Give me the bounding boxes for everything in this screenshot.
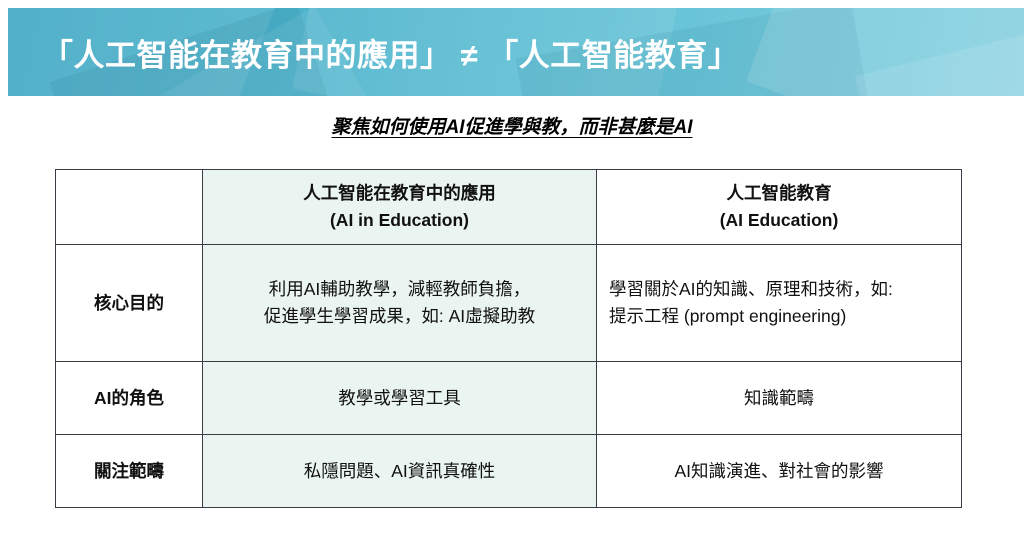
table-corner-blank <box>56 170 203 245</box>
table-header-row: 人工智能在教育中的應用 (AI in Education) 人工智能教育 (AI… <box>56 170 962 245</box>
slide-subtitle: 聚焦如何使用AI促進學與教，而非甚麼是AI <box>0 112 1024 139</box>
column-header-ai-in-education: 人工智能在教育中的應用 (AI in Education) <box>203 170 597 245</box>
banner-polygon-decor <box>746 8 1024 96</box>
cell-focus-area-ai-in-education: 私隱問題、AI資訊真確性 <box>203 435 597 508</box>
banner-polygon-decor <box>855 14 1024 96</box>
row-label-core-purpose: 核心目的 <box>56 245 203 362</box>
cell-core-purpose-ai-education: 學習關於AI的知識、原理和技術，如: 提示工程 (prompt engineer… <box>597 245 962 362</box>
comparison-table: 人工智能在教育中的應用 (AI in Education) 人工智能教育 (AI… <box>55 169 962 508</box>
slide-header-banner: 「人工智能在教育中的應用」 ≠ 「人工智能教育」 <box>8 8 1024 96</box>
column-header-en: (AI Education) <box>609 207 949 234</box>
cell-ai-role-ai-education: 知識範疇 <box>597 362 962 435</box>
column-header-ai-education: 人工智能教育 (AI Education) <box>597 170 962 245</box>
cell-line: 促進學生學習成果，如: AI虛擬助教 <box>215 303 584 330</box>
table-row: AI的角色 教學或學習工具 知識範疇 <box>56 362 962 435</box>
cell-line: 提示工程 (prompt engineering) <box>609 303 949 330</box>
table-row: 核心目的 利用AI輔助教學，減輕教師負擔， 促進學生學習成果，如: AI虛擬助教… <box>56 245 962 362</box>
row-label-ai-role: AI的角色 <box>56 362 203 435</box>
slide-title: 「人工智能在教育中的應用」 ≠ 「人工智能教育」 <box>42 8 739 96</box>
cell-line: 利用AI輔助教學，減輕教師負擔， <box>215 276 584 303</box>
cell-focus-area-ai-education: AI知識演進、對社會的影響 <box>597 435 962 508</box>
cell-core-purpose-ai-in-education: 利用AI輔助教學，減輕教師負擔， 促進學生學習成果，如: AI虛擬助教 <box>203 245 597 362</box>
column-header-zh: 人工智能在教育中的應用 <box>215 180 584 207</box>
column-header-en: (AI in Education) <box>215 207 584 234</box>
column-header-zh: 人工智能教育 <box>609 180 949 207</box>
comparison-table-container: 人工智能在教育中的應用 (AI in Education) 人工智能教育 (AI… <box>55 169 961 477</box>
cell-ai-role-ai-in-education: 教學或學習工具 <box>203 362 597 435</box>
cell-line: 學習關於AI的知識、原理和技術，如: <box>609 276 949 303</box>
row-label-focus-area: 關注範疇 <box>56 435 203 508</box>
table-row: 關注範疇 私隱問題、AI資訊真確性 AI知識演進、對社會的影響 <box>56 435 962 508</box>
